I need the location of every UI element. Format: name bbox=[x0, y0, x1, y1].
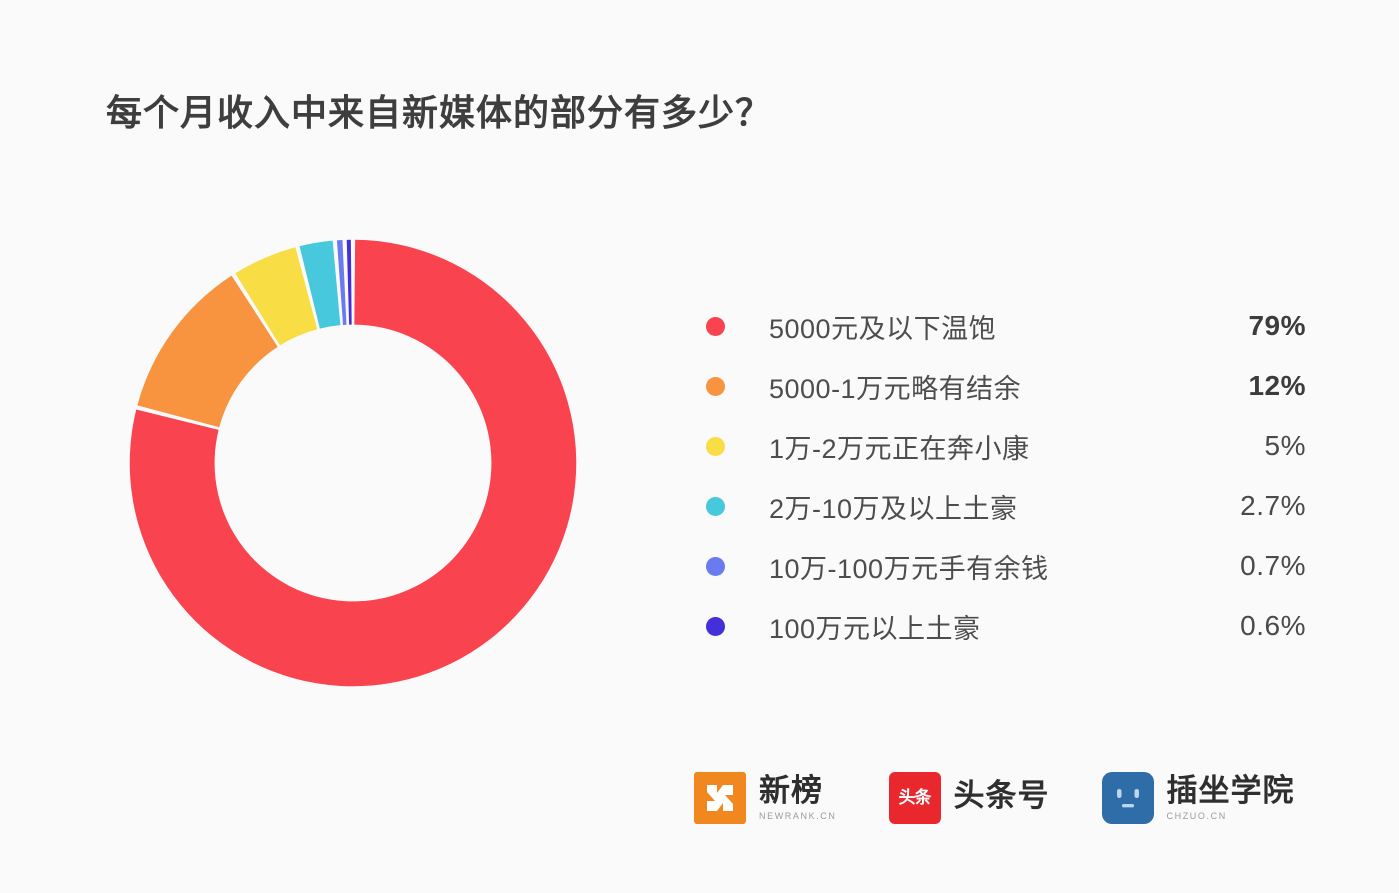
legend-item[interactable]: 1万-2万元正在奔小康 5% bbox=[706, 416, 1306, 476]
legend-item-label: 100万元以上土豪 bbox=[769, 607, 1186, 646]
legend-item-label: 5000元及以下温饱 bbox=[769, 307, 1186, 346]
logo-name: 插坐学院 bbox=[1167, 775, 1295, 808]
legend-item-label: 1万-2万元正在奔小康 bbox=[769, 427, 1186, 466]
logo-newrank-text: 新榜 NEWRANK.CN bbox=[759, 775, 837, 821]
legend-item-label: 2万-10万及以上土豪 bbox=[769, 487, 1186, 526]
page-title: 每个月收入中来自新媒体的部分有多少？ bbox=[106, 84, 772, 136]
logo-toutiaohao-text: 头条号 bbox=[954, 780, 1050, 816]
legend-item-value: 2.7% bbox=[1186, 490, 1306, 522]
legend-item[interactable]: 2万-10万及以上土豪 2.7% bbox=[706, 476, 1306, 536]
logo-chazuo-text: 插坐学院 CHZUO.CN bbox=[1167, 775, 1295, 821]
legend-item-value: 12% bbox=[1186, 370, 1306, 402]
legend-item-value: 79% bbox=[1186, 310, 1306, 342]
logo-subtitle: CHZUO.CN bbox=[1167, 811, 1295, 821]
logo-newrank[interactable]: 新榜 NEWRANK.CN bbox=[694, 772, 837, 824]
legend-color-swatch-icon bbox=[706, 557, 725, 576]
legend-item-value: 5% bbox=[1186, 430, 1306, 462]
legend-item[interactable]: 10万-100万元手有余钱 0.7% bbox=[706, 536, 1306, 596]
legend-item[interactable]: 100万元以上土豪 0.6% bbox=[706, 596, 1306, 656]
newrank-logo-icon bbox=[694, 772, 746, 824]
donut-chart bbox=[118, 228, 588, 698]
footer-logos: 新榜 NEWRANK.CN 头条 头条号 插坐学院 CHZUO.CN bbox=[694, 772, 1295, 824]
legend-item-value: 0.6% bbox=[1186, 610, 1306, 642]
logo-subtitle: NEWRANK.CN bbox=[759, 811, 837, 821]
legend-color-swatch-icon bbox=[706, 617, 725, 636]
chazuo-logo-icon bbox=[1102, 772, 1154, 824]
legend-color-swatch-icon bbox=[706, 437, 725, 456]
logo-name: 新榜 bbox=[759, 775, 837, 808]
toutiao-logo-icon: 头条 bbox=[889, 772, 941, 824]
legend-item-value: 0.7% bbox=[1186, 550, 1306, 582]
logo-name: 头条号 bbox=[954, 780, 1050, 813]
legend-color-swatch-icon bbox=[706, 377, 725, 396]
legend-item-label: 10万-100万元手有余钱 bbox=[769, 547, 1186, 586]
legend-color-swatch-icon bbox=[706, 497, 725, 516]
chart-legend: 5000元及以下温饱 79% 5000-1万元略有结余 12% 1万-2万元正在… bbox=[706, 296, 1306, 656]
legend-item-label: 5000-1万元略有结余 bbox=[769, 367, 1186, 406]
chart-page: 每个月收入中来自新媒体的部分有多少？ 5000元及以下温饱 79% 5000-1… bbox=[0, 0, 1399, 893]
logo-chazuo[interactable]: 插坐学院 CHZUO.CN bbox=[1102, 772, 1295, 824]
legend-color-swatch-icon bbox=[706, 317, 725, 336]
donut-chart-svg bbox=[118, 228, 588, 698]
donut-slice[interactable] bbox=[347, 240, 352, 325]
legend-item[interactable]: 5000元及以下温饱 79% bbox=[706, 296, 1306, 356]
logo-toutiaohao[interactable]: 头条 头条号 bbox=[889, 772, 1050, 824]
legend-item[interactable]: 5000-1万元略有结余 12% bbox=[706, 356, 1306, 416]
